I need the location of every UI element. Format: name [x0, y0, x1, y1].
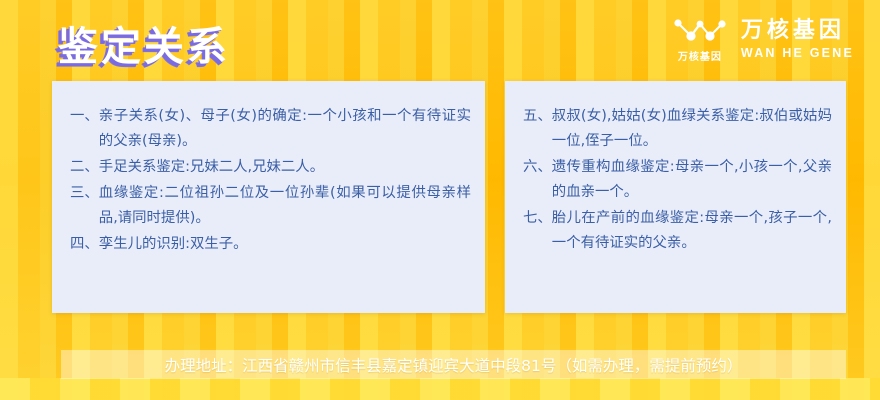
- list-item-text: 孪生儿的识别:双生子。: [99, 232, 471, 257]
- list-item-number: 三、: [70, 181, 99, 231]
- list-item-text: 血缘鉴定:二位祖孙二位及一位孙辈(如果可以提供母亲样品,请同时提供)。: [99, 181, 471, 231]
- brand-wordmark: 万核基因 WAN HE GENE: [741, 20, 854, 60]
- list-item-number: 七、: [523, 206, 552, 256]
- address-banner: 办理地址：江西省赣州市信丰县嘉定镇迎宾大道中段81号（如需办理，需提前预约）: [61, 350, 846, 379]
- list-item-text: 遗传重构血缘鉴定:母亲一个,小孩一个,父亲的血亲一个。: [552, 155, 832, 205]
- list-item-number: 一、: [70, 104, 99, 154]
- brand-mark-label: 万核基因: [678, 48, 722, 63]
- background-bottom-band: [0, 378, 880, 400]
- info-card-right-body: 五、 叔叔(女),姑姑(女)血绿关系鉴定:叔伯或姑妈一位,侄子一位。 六、 遗传…: [505, 81, 846, 313]
- list-item-number: 四、: [70, 232, 99, 257]
- poster-root: 鉴定关系: [0, 0, 880, 400]
- address-text: 办理地址：江西省赣州市信丰县嘉定镇迎宾大道中段81号（如需办理，需提前预约）: [165, 354, 743, 376]
- brand-name-en: WAN HE GENE: [741, 47, 854, 60]
- page-title: 鉴定关系: [58, 14, 230, 72]
- list-item-number: 六、: [523, 155, 552, 205]
- list-item: 四、 孪生儿的识别:双生子。: [70, 232, 471, 257]
- list-item: 二、 手足关系鉴定:兄妹二人,兄妹二人。: [70, 155, 471, 180]
- list-item: 五、 叔叔(女),姑姑(女)血绿关系鉴定:叔伯或姑妈一位,侄子一位。: [523, 104, 832, 154]
- brand-name-cn: 万核基因: [741, 20, 845, 42]
- info-card-left: 一、 亲子关系(女)、母子(女)的确定:一个小孩和一个有待证实的父亲(母亲)。 …: [52, 81, 485, 313]
- list-item: 三、 血缘鉴定:二位祖孙二位及一位孙辈(如果可以提供母亲样品,请同时提供)。: [70, 181, 471, 231]
- info-card-left-body: 一、 亲子关系(女)、母子(女)的确定:一个小孩和一个有待证实的父亲(母亲)。 …: [52, 81, 485, 313]
- list-item-text: 亲子关系(女)、母子(女)的确定:一个小孩和一个有待证实的父亲(母亲)。: [99, 104, 471, 154]
- list-item: 七、 胎儿在产前的血缘鉴定:母亲一个,孩子一个,一个有待证实的父亲。: [523, 206, 832, 256]
- list-item: 一、 亲子关系(女)、母子(女)的确定:一个小孩和一个有待证实的父亲(母亲)。: [70, 104, 471, 154]
- info-card-right: 五、 叔叔(女),姑姑(女)血绿关系鉴定:叔伯或姑妈一位,侄子一位。 六、 遗传…: [505, 81, 846, 313]
- list-item-number: 五、: [523, 104, 552, 154]
- list-item-text: 胎儿在产前的血缘鉴定:母亲一个,孩子一个,一个有待证实的父亲。: [552, 206, 832, 256]
- brand-mark: 万核基因: [671, 16, 729, 63]
- list-item-text: 手足关系鉴定:兄妹二人,兄妹二人。: [99, 155, 471, 180]
- list-item: 六、 遗传重构血缘鉴定:母亲一个,小孩一个,父亲的血亲一个。: [523, 155, 832, 205]
- molecule-network-icon: [671, 16, 729, 46]
- list-item-number: 二、: [70, 155, 99, 180]
- list-item-text: 叔叔(女),姑姑(女)血绿关系鉴定:叔伯或姑妈一位,侄子一位。: [552, 104, 832, 154]
- brand-logo: 万核基因 万核基因 WAN HE GENE: [671, 16, 854, 63]
